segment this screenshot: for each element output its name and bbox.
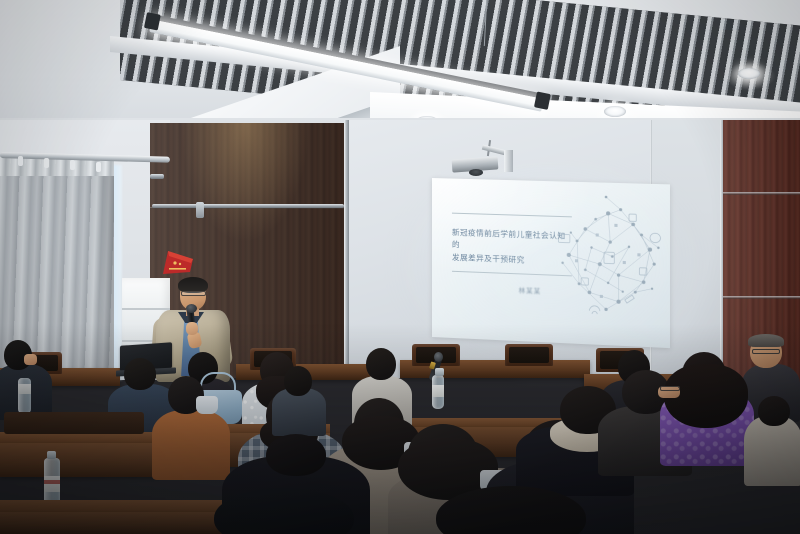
- audience-member-purple-jacket: [660, 352, 756, 460]
- slide-author: 林某某: [519, 285, 542, 295]
- curtain-hook-3: [70, 160, 75, 170]
- wood-right-seam-2: [723, 296, 800, 299]
- presenter-second-hand: [186, 322, 198, 335]
- projector-lens: [469, 169, 483, 176]
- person-head: [758, 396, 790, 426]
- network-diagram-svg: [554, 187, 666, 326]
- person-head: [214, 488, 354, 534]
- wood-right-seam-1: [723, 192, 800, 195]
- chair-far-4: [505, 344, 553, 366]
- bottle-cap-center: [435, 368, 444, 376]
- curtain-hook-2: [44, 158, 49, 168]
- bottle-label-left: [44, 476, 60, 492]
- projection-screen[interactable]: 新冠疫情前后学前儿童社会认知的 发展差异及干预研究 林某某: [432, 178, 670, 348]
- wall-trim-vertical-left: [344, 120, 349, 378]
- face-mask: [196, 396, 218, 414]
- person-head: [284, 366, 312, 396]
- glass-cup-left[interactable]: [18, 378, 31, 414]
- bottle-cap-left: [47, 451, 56, 459]
- microphone-head: [186, 304, 197, 313]
- downlight-5: [738, 68, 760, 79]
- glasses-icon: [752, 349, 780, 354]
- lecture-hall-photo: 新冠疫情前后学前儿童社会认知的 发展差异及干预研究 林某某: [0, 0, 800, 534]
- network-node-diagram: [554, 187, 666, 326]
- desk-microphone-head: [434, 352, 443, 362]
- curtain-hook-1: [18, 156, 23, 166]
- glasses-icon: [181, 291, 206, 296]
- person-face: [24, 354, 37, 365]
- wood-panel-highlight: [180, 123, 310, 243]
- desk-mid-left: [0, 443, 160, 477]
- bench-mid-left: [4, 412, 144, 434]
- person-gray-hair: [748, 334, 784, 347]
- person-body: [152, 410, 230, 480]
- ceiling-projector: [452, 150, 510, 172]
- audience-member-far-right-edge: [744, 396, 800, 476]
- slide-title: 新冠疫情前后学前儿童社会认知的 发展差异及干预研究: [452, 227, 566, 268]
- wall-rail-center: [152, 204, 344, 208]
- audience-member-foreground-head: [396, 486, 626, 534]
- projector-wall-mount: [504, 150, 513, 172]
- person-body: [744, 416, 800, 486]
- person-head: [266, 434, 326, 476]
- person-head: [366, 348, 396, 380]
- wall-rail-bracket-left: [150, 174, 164, 179]
- bottle-label-stripe-left: [44, 480, 60, 484]
- bottle-label-center: [432, 385, 444, 397]
- chair-far-4-pad: [509, 347, 549, 363]
- glass-cup-band: [18, 384, 31, 394]
- downlight-4: [604, 106, 626, 117]
- person-head: [436, 486, 586, 534]
- glasses-icon: [660, 386, 680, 391]
- audience-member-foreground-head-2: [184, 488, 384, 534]
- wall-rail-hook: [196, 202, 204, 218]
- curtain-hook-4: [96, 162, 101, 172]
